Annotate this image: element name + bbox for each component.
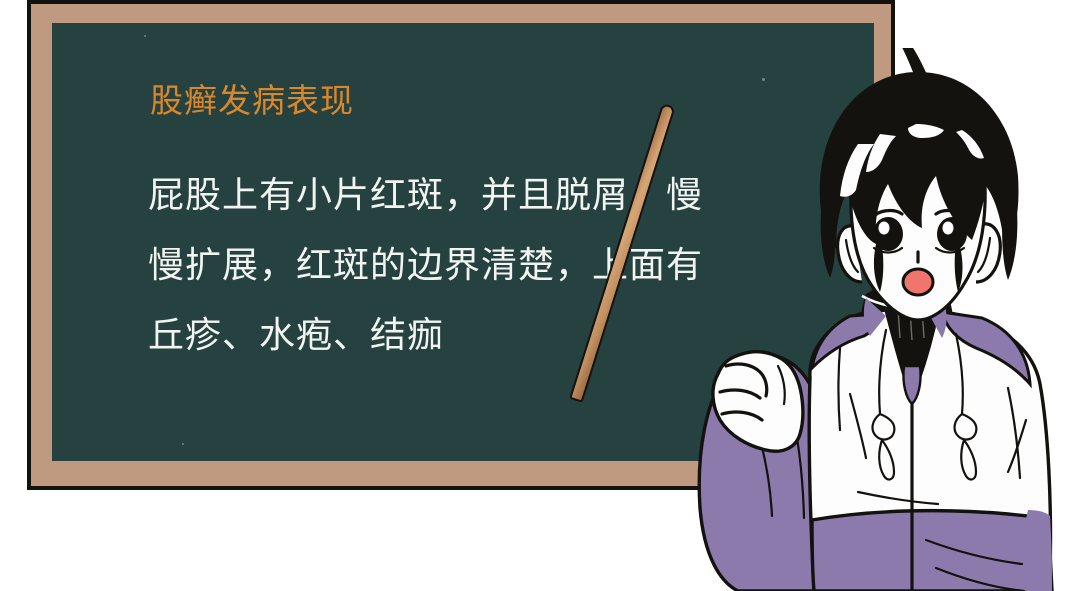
chalk-dust-speck: [182, 443, 184, 445]
board-title: 股癣发病表现: [150, 81, 354, 121]
hoodie-hem-purple: [812, 511, 1052, 591]
slide-canvas: 股癣发病表现 屁股上有小片红斑，并且脱屑，慢 慢扩展，红斑的边界清楚，上面有 丘…: [0, 0, 1080, 591]
chalk-dust-speck: [144, 35, 146, 37]
character-illustration: [690, 48, 1080, 591]
mouth: [903, 269, 933, 295]
